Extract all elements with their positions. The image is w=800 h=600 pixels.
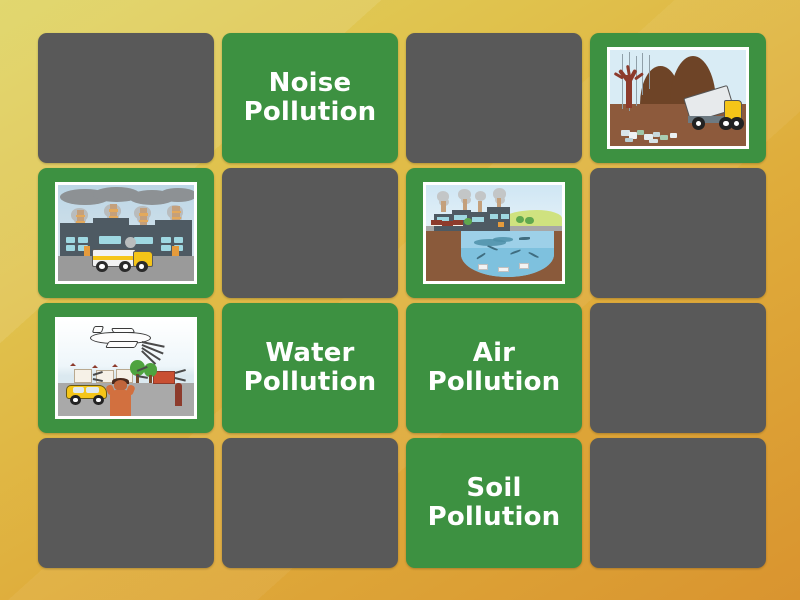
card-label-line2: Pollution (428, 367, 561, 397)
card-label-line2: Pollution (428, 502, 561, 532)
card-label: Air Pollution (422, 339, 567, 397)
card-label-line1: Air (473, 338, 515, 368)
card-label-line1: Noise (269, 68, 352, 98)
card-8-face-down[interactable] (590, 168, 766, 298)
picture-frame (55, 317, 198, 418)
soil-pollution-image (610, 50, 747, 145)
card-label-line1: Soil (466, 473, 521, 503)
noise-pollution-image (58, 320, 195, 415)
card-4-soil-pollution-image[interactable] (590, 33, 766, 163)
card-11-air-pollution-label[interactable]: Air Pollution (406, 303, 582, 433)
card-13-face-down[interactable] (38, 438, 214, 568)
card-label-line2: Pollution (244, 367, 377, 397)
card-7-water-pollution-image[interactable] (406, 168, 582, 298)
card-12-face-down[interactable] (590, 303, 766, 433)
air-pollution-image (58, 185, 195, 280)
water-pollution-image (426, 185, 563, 280)
card-label-line1: Water (265, 338, 354, 368)
card-3-face-down[interactable] (406, 33, 582, 163)
card-15-soil-pollution-label[interactable]: Soil Pollution (406, 438, 582, 568)
card-16-face-down[interactable] (590, 438, 766, 568)
card-14-face-down[interactable] (222, 438, 398, 568)
picture-frame (423, 182, 566, 283)
card-label: Soil Pollution (422, 474, 567, 532)
card-9-noise-pollution-image[interactable] (38, 303, 214, 433)
card-label-line2: Pollution (244, 97, 377, 127)
card-label: Noise Pollution (238, 69, 383, 127)
card-6-face-down[interactable] (222, 168, 398, 298)
picture-frame (55, 182, 198, 283)
card-5-air-pollution-image[interactable] (38, 168, 214, 298)
picture-frame (607, 47, 750, 148)
card-10-water-pollution-label[interactable]: Water Pollution (222, 303, 398, 433)
card-label: Water Pollution (238, 339, 383, 397)
card-2-noise-pollution-label[interactable]: Noise Pollution (222, 33, 398, 163)
card-1-face-down[interactable] (38, 33, 214, 163)
matching-game-board: Noise Pollution (38, 33, 766, 568)
